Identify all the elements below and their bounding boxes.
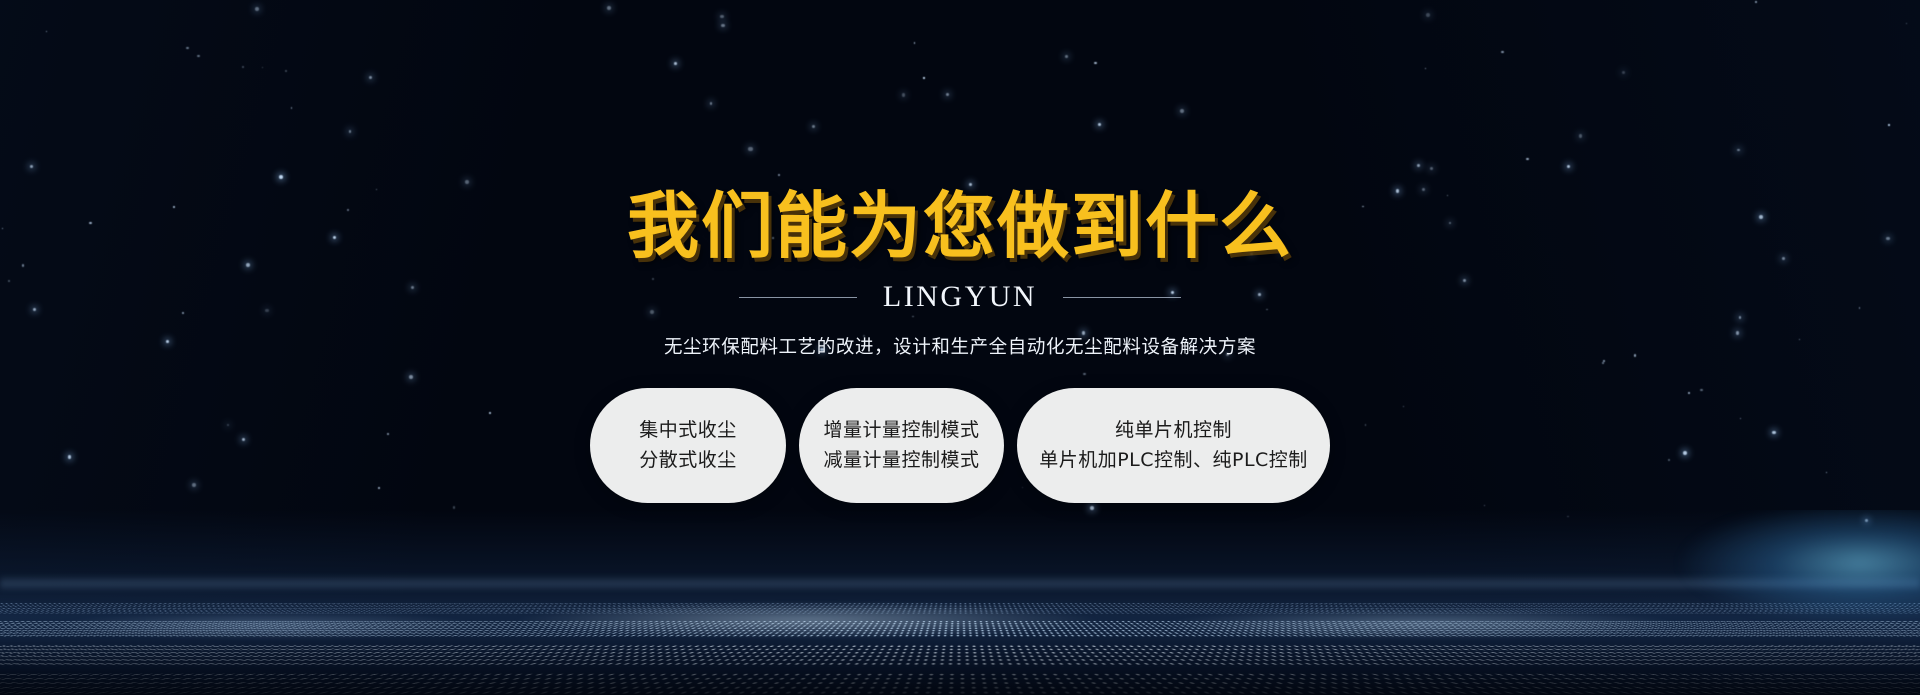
feature-card-dust-collection[interactable]: 集中式收尘 分散式收尘 [590,388,786,503]
banner-content: 我们能为您做到什么 LINGYUN 无尘环保配料工艺的改进，设计和生产全自动化无… [0,0,1920,695]
hero-banner: 我们能为您做到什么 LINGYUN 无尘环保配料工艺的改进，设计和生产全自动化无… [0,0,1920,695]
rule-left [739,297,857,298]
feature-card-metering-control-mode[interactable]: 增量计量控制模式 减量计量控制模式 [799,388,1004,503]
feature-card-line: 纯单片机控制 [1115,421,1232,440]
feature-card-line: 减量计量控制模式 [823,451,979,470]
feature-card-line: 增量计量控制模式 [823,421,979,440]
feature-card-controller-type[interactable]: 纯单片机控制 单片机加PLC控制、纯PLC控制 [1017,388,1330,503]
feature-card-list: 集中式收尘 分散式收尘 增量计量控制模式 减量计量控制模式 纯单片机控制 单片机… [590,388,1330,503]
feature-card-line: 分散式收尘 [639,451,737,470]
page-title: 我们能为您做到什么 [627,190,1293,262]
rule-right [1063,297,1181,298]
feature-card-line: 单片机加PLC控制、纯PLC控制 [1039,451,1308,470]
brand-subtitle-row: LINGYUN [739,280,1181,314]
banner-description: 无尘环保配料工艺的改进，设计和生产全自动化无尘配料设备解决方案 [664,333,1256,359]
feature-card-line: 集中式收尘 [639,421,737,440]
brand-name: LINGYUN [883,280,1037,314]
